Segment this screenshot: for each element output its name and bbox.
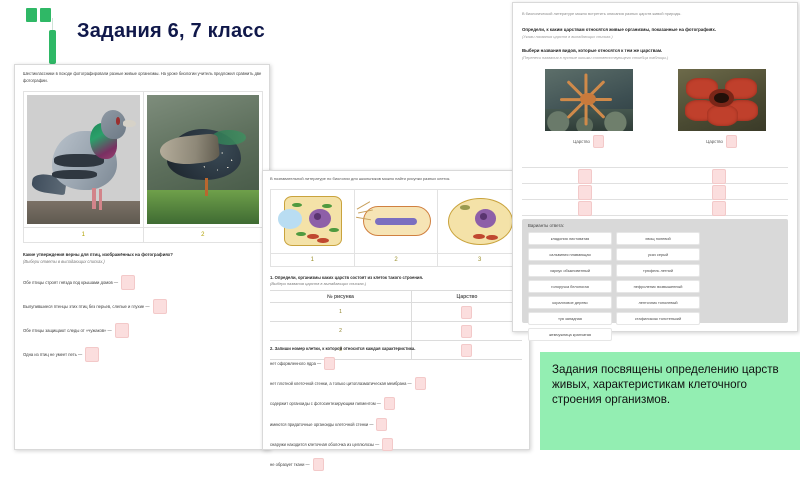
dropzone-2-2[interactable] — [712, 185, 726, 200]
dropzone-2-3[interactable] — [712, 201, 726, 216]
statement-dropdown-3[interactable] — [115, 323, 129, 338]
statement-text-2: Вылупившиеся птенцы этих птиц без перьев… — [23, 304, 150, 309]
table-cell-kingdom-2[interactable] — [411, 322, 522, 341]
table-header-num: № рисунка — [270, 291, 411, 303]
accent-bar — [49, 30, 56, 64]
card3-line-2-hint: (Укажи названия царств в выпадающих спис… — [522, 34, 788, 40]
card2-question-1-hint: (Выбери названия царств в выпадающих спи… — [270, 281, 522, 287]
animal-cell-diagram — [438, 190, 521, 253]
characteristic-input-4[interactable] — [376, 418, 387, 431]
organism-caption-text-2: Царство — [706, 139, 723, 144]
organism-dropdown-2[interactable] — [726, 135, 737, 148]
answer-chip[interactable]: трюфель летний — [616, 264, 700, 277]
page-title: Задания 6, 7 класс — [77, 20, 265, 43]
cell-number-1: 1 — [271, 253, 354, 266]
table-row: 1 — [270, 303, 522, 322]
list-item: нет плотной клеточной стенки, а только ц… — [270, 377, 526, 390]
table-cell-kingdom-1[interactable] — [411, 303, 522, 322]
cell-diagram-cell-3: 3 — [437, 190, 521, 266]
table-header-row: № рисунка Царство — [270, 291, 522, 303]
table-cell-num-2: 2 — [270, 322, 411, 341]
organism-photo-row: Царство Царство — [522, 69, 788, 161]
characteristic-input-3[interactable] — [384, 397, 395, 410]
statement-dropdown-1[interactable] — [121, 275, 135, 290]
list-item: не образует ткани — — [270, 458, 526, 471]
photo-label-1: 1 — [24, 227, 143, 242]
card2-question-2: 2. Запиши номер клетки, к которой относи… — [270, 346, 522, 351]
organism-caption-1: Царство — [573, 135, 604, 148]
answer-chip[interactable]: коралловое дерево — [528, 296, 612, 309]
answer-chip-list: кладония листоватая хвощ полевой сальвин… — [528, 232, 782, 341]
dropzone-2-1[interactable] — [712, 169, 726, 184]
characteristic-input-5[interactable] — [382, 438, 393, 451]
dropzone-1-1[interactable] — [578, 169, 592, 184]
card3-line-3-hint: (Перенеси названия в пустые окошки соотв… — [522, 55, 788, 61]
statement-row-2: Вылупившиеся птенцы этих птиц без перьев… — [23, 299, 267, 314]
statement-text-4: Одна из птиц не умеет петь — — [23, 352, 82, 357]
statement-row-4: Одна из птиц не умеет петь — — [23, 347, 267, 362]
answer-chip[interactable]: голоручка белоногая — [528, 280, 612, 293]
task-card-cells: В познавательной литературе по биологии … — [262, 170, 530, 450]
open-book-icon — [26, 8, 52, 22]
organism-caption-2: Царство — [706, 135, 737, 148]
rafflesia-photo — [678, 69, 766, 131]
answer-chip[interactable]: сальвиния плавающая — [528, 248, 612, 261]
answer-chip[interactable]: стафилококк толстенький — [616, 312, 700, 325]
statement-row-3: Обе птицы защищают следы от «чужаков» — — [23, 323, 267, 338]
cell-diagram-row: 1 2 — [270, 189, 522, 267]
answer-options-panel: Варианты ответа: кладония листоватая хво… — [522, 219, 788, 323]
characteristic-text-6: не образует ткани — — [270, 462, 310, 467]
card3-line-1: В биологической литературе можно встрети… — [522, 11, 788, 17]
characteristic-input-6[interactable] — [313, 458, 324, 471]
organism-cell-2: Царство — [655, 69, 788, 161]
answer-chip[interactable]: ленточник тополевый — [616, 296, 700, 309]
summary-note-text: Задания посвящены определению царств жив… — [552, 362, 788, 407]
card3-line-3: Выбери названия видов, которые относятся… — [522, 48, 788, 55]
card3-line-2: Определи, к каким царствам относятся жив… — [522, 27, 788, 34]
characteristic-input-2[interactable] — [415, 377, 426, 390]
bird-photo-row: 1 2 — [23, 91, 263, 243]
pigeon-photo — [27, 95, 140, 224]
card1-question: Какие утверждения верны для птиц, изобра… — [23, 251, 263, 258]
bird-photo-cell-1: 1 — [24, 92, 143, 242]
answer-chip[interactable]: хариус обыкновенный — [528, 264, 612, 277]
dropzone-grid — [522, 167, 788, 217]
cell-number-2: 2 — [355, 253, 438, 266]
answer-chip[interactable]: усач серый — [616, 248, 700, 261]
answer-chip[interactable]: хвощ полевой — [616, 232, 700, 245]
organism-caption-text-1: Царство — [573, 139, 590, 144]
statement-dropdown-4[interactable] — [85, 347, 99, 362]
answer-chip[interactable]: нефролепис возвышенный — [616, 280, 700, 293]
characteristic-text-4: имеются придаточные органоиды клеточной … — [270, 422, 373, 427]
photo-label-2: 2 — [144, 227, 263, 242]
list-item: имеются придаточные органоиды клеточной … — [270, 418, 526, 431]
slide-root: Задания 6, 7 класс Шестиклассники в похо… — [0, 0, 800, 450]
plant-cell-diagram — [271, 190, 354, 253]
answer-options-title: Варианты ответа: — [528, 223, 782, 228]
characteristic-text-2: нет плотной клеточной стенки, а только ц… — [270, 381, 412, 386]
characteristics-list: нет оформленного ядра — нет плотной клет… — [270, 357, 526, 478]
statement-text-3: Обе птицы защищают следы от «чужаков» — — [23, 328, 112, 333]
answer-chip[interactable]: туя западная — [528, 312, 612, 325]
table-header-kingdom: Царство — [411, 291, 522, 303]
starling-photo — [147, 95, 260, 224]
bird-photo-cell-2: 2 — [143, 92, 263, 242]
cell-diagram-cell-2: 2 — [354, 190, 438, 266]
starfish-photo — [545, 69, 633, 131]
task-card-kingdoms: В биологической литературе можно встрети… — [512, 2, 798, 332]
cell-number-3: 3 — [438, 253, 521, 266]
list-item: снаружи находится клеточная оболочка из … — [270, 438, 526, 451]
cell-diagram-cell-1: 1 — [271, 190, 354, 266]
characteristic-text-1: нет оформленного ядра — — [270, 361, 321, 366]
summary-note: Задания посвящены определению царств жив… — [540, 352, 800, 450]
organism-cell-1: Царство — [522, 69, 655, 161]
statement-dropdown-2[interactable] — [153, 299, 167, 314]
list-item: содержит органоиды с фотосинтезирующим п… — [270, 397, 526, 410]
answer-chip[interactable]: жемчужница крапчатая — [528, 328, 612, 341]
table-cell-num-1: 1 — [270, 303, 411, 322]
organism-dropdown-1[interactable] — [593, 135, 604, 148]
characteristic-text-3: содержит органоиды с фотосинтезирующим п… — [270, 401, 381, 406]
characteristic-input-1[interactable] — [324, 357, 335, 370]
statement-row-1: Обе птицы строят гнёзда под крышами домо… — [23, 275, 267, 290]
card1-question-hint: (Выбери ответы в выпадающих списках.) — [23, 259, 263, 265]
table-row: 2 — [270, 322, 522, 341]
card2-intro: В познавательной литературе по биологии … — [270, 176, 522, 182]
list-item: нет оформленного ядра — — [270, 357, 526, 370]
dropzone-1-3[interactable] — [578, 201, 592, 216]
task-card-birds: Шестиклассники в походе фотографировали … — [14, 64, 270, 450]
statement-text-1: Обе птицы строят гнёзда под крышами домо… — [23, 280, 118, 285]
card1-intro: Шестиклассники в походе фотографировали … — [23, 71, 263, 84]
answer-chip[interactable]: кладония листоватая — [528, 232, 612, 245]
bacteria-cell-diagram — [355, 190, 438, 253]
characteristic-text-5: снаружи находится клеточная оболочка из … — [270, 442, 379, 447]
dropzone-1-2[interactable] — [578, 185, 592, 200]
